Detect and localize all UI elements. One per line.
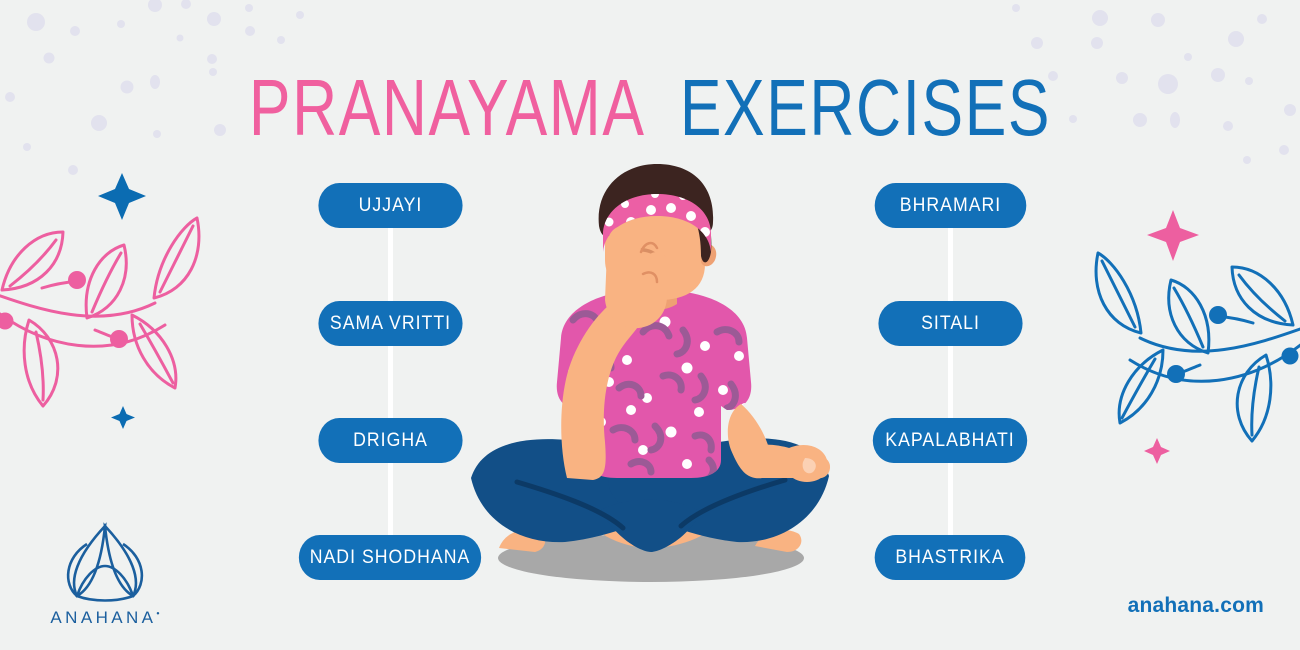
pill-label: SAMA VRITTI (329, 313, 450, 335)
pill-connector-line (948, 459, 953, 539)
website-url[interactable]: anahana.com (1128, 594, 1264, 618)
pill-connector-line (388, 459, 393, 539)
exercise-pill-drigha[interactable]: DRIGHA (180, 418, 600, 463)
sparkle-icon (111, 406, 135, 429)
exercise-pill-bhramari[interactable]: BHRAMARI (760, 183, 1140, 228)
anahana-logo[interactable]: ANAHANA• (30, 522, 180, 628)
pill-label: SITALI (921, 313, 980, 335)
pill-connector-line (948, 342, 953, 422)
exercise-pill-sama-vritti[interactable]: SAMA VRITTI (180, 301, 600, 346)
triquetra-icon (57, 522, 153, 604)
pill-connector-line (948, 225, 953, 305)
pill-connector-line (388, 225, 393, 305)
pill-label: BHASTRIKA (895, 547, 1004, 569)
logo-wordmark: ANAHANA• (30, 608, 180, 628)
sparkle-icon (98, 173, 146, 220)
pill-label: BHRAMARI (899, 195, 1000, 217)
pill-label: DRIGHA (353, 430, 428, 452)
pill-label: UJJAYI (358, 195, 422, 217)
pill-connector-line (388, 342, 393, 422)
exercise-pill-kapalabhati[interactable]: KAPALABHATI (760, 418, 1140, 463)
exercise-pill-ujjayi[interactable]: UJJAYI (180, 183, 600, 228)
right-exercise-column: BHRAMARI SITALI KAPALABHATI BHASTRIKA (760, 0, 1180, 650)
exercise-pill-nadi-shodhana[interactable]: NADI SHODHANA (180, 535, 600, 580)
exercise-pill-sitali[interactable]: SITALI (760, 301, 1140, 346)
infographic-canvas: PRANAYAMA EXERCISES (0, 0, 1300, 650)
left-exercise-column: UJJAYI SAMA VRITTI DRIGHA NADI SHODHANA (180, 0, 600, 650)
pill-label: NADI SHODHANA (310, 547, 471, 569)
exercise-pill-bhastrika[interactable]: BHASTRIKA (760, 535, 1140, 580)
pill-label: KAPALABHATI (885, 430, 1014, 452)
